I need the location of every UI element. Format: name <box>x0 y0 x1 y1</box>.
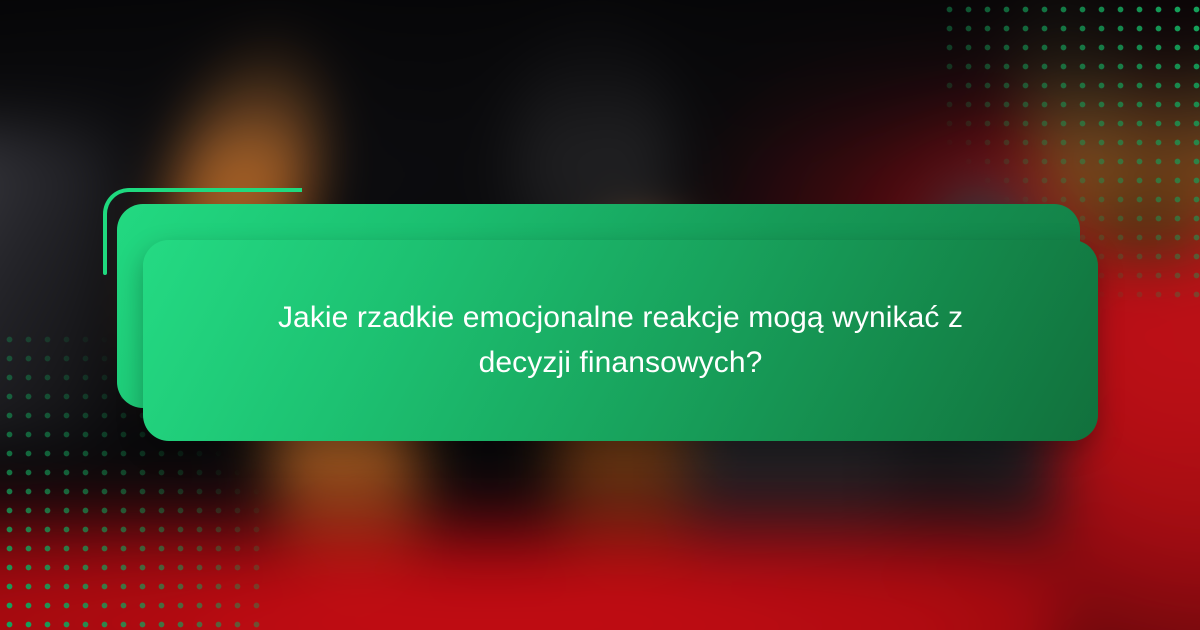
card-stack: Jakie rzadkie emocjonalne reakcje mogą w… <box>0 0 1200 630</box>
headline-text: Jakie rzadkie emocjonalne reakcje mogą w… <box>241 296 1001 385</box>
accent-outline-cap-vertical <box>103 269 107 275</box>
og-image-canvas: Jakie rzadkie emocjonalne reakcje mogą w… <box>0 0 1200 630</box>
accent-outline-cap-horizontal <box>296 188 302 192</box>
card-front-layer: Jakie rzadkie emocjonalne reakcje mogą w… <box>143 240 1098 441</box>
